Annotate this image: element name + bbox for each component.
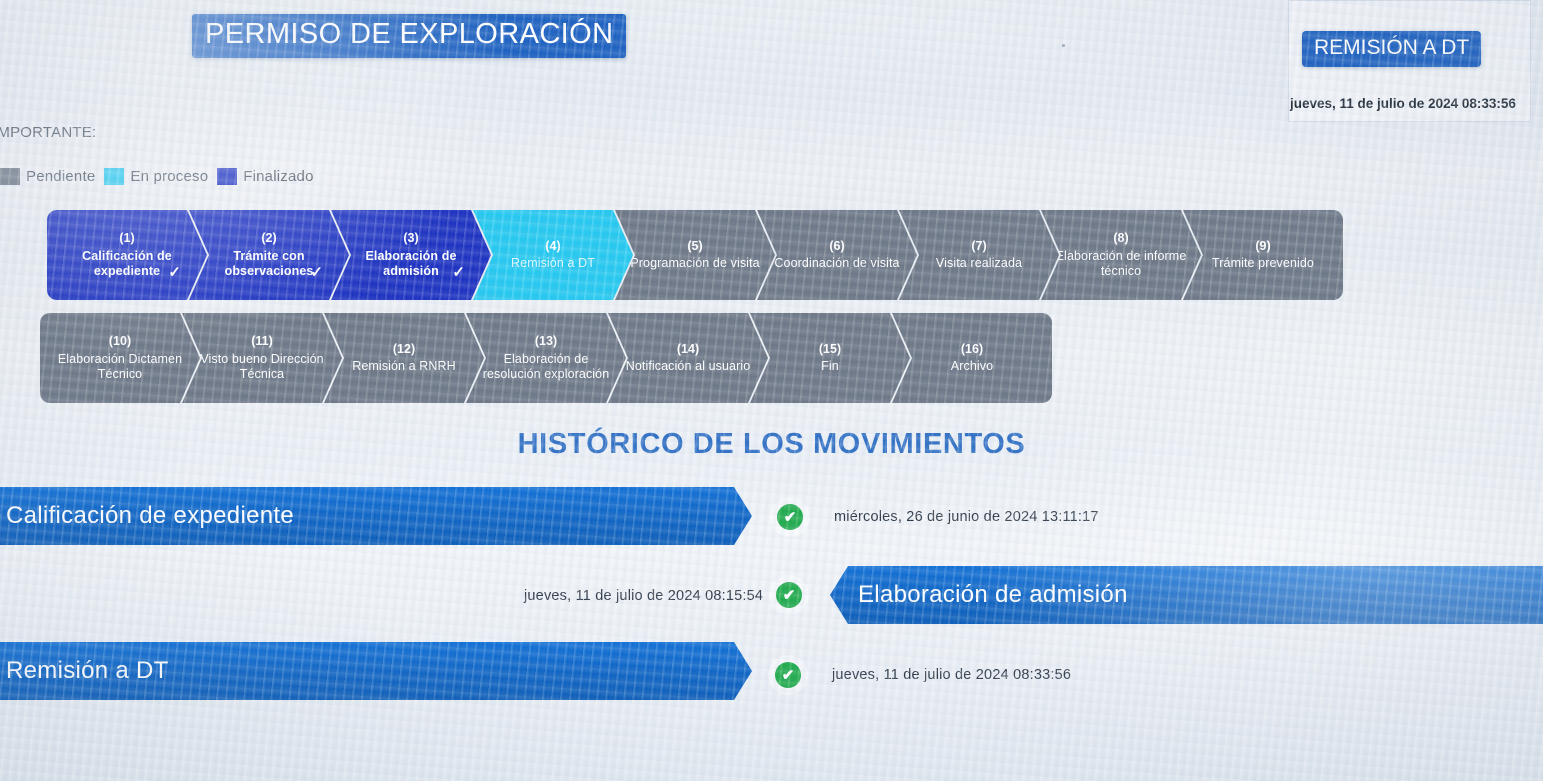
- history-bar-label: Calificación de expediente: [6, 502, 294, 530]
- flow-step-number: (14): [677, 342, 699, 358]
- flow-step-number: (13): [535, 334, 557, 350]
- flow-step-number: (2): [261, 231, 276, 247]
- flow-step-2[interactable]: (2)Trámite con observaciones✓: [189, 210, 349, 300]
- history-bar[interactable]: Calificación de expediente: [0, 487, 752, 545]
- flow-step-number: (10): [109, 334, 131, 350]
- check-icon: ✓: [310, 263, 323, 281]
- history-date: jueves, 11 de julio de 2024 08:33:56: [832, 667, 1071, 683]
- screen-artifact-text: [1040, 168, 1240, 186]
- flow-step-5[interactable]: (5)Programación de visita: [615, 210, 775, 300]
- legend-item-finalizado: Finalizado: [217, 168, 313, 185]
- flow-step-label: Visto bueno Dirección Técnica: [196, 352, 328, 383]
- flow-step-number: (4): [545, 239, 560, 255]
- flow-step-13[interactable]: (13)Elaboración de resolución exploració…: [466, 313, 626, 403]
- legend-item-pendiente: Pendiente: [0, 168, 95, 185]
- check-icon: ✓: [452, 263, 465, 281]
- flow-step-number: (8): [1113, 231, 1128, 247]
- important-label: IMPORTANTE:: [0, 124, 96, 141]
- flow-step-number: (16): [961, 342, 983, 358]
- flow-step-number: (9): [1255, 239, 1270, 255]
- history-heading: HISTÓRICO DE LOS MOVIMIENTOS: [0, 428, 1543, 461]
- flow-step-label: Coordinación de visita: [774, 256, 899, 271]
- flow-step-4[interactable]: (4)Remisión a DT: [473, 210, 633, 300]
- history-date: jueves, 11 de julio de 2024 08:15:54: [524, 588, 763, 604]
- history-date: miércoles, 26 de junio de 2024 13:11:17: [834, 509, 1099, 525]
- history-bar-label: Elaboración de admisión: [858, 581, 1128, 609]
- flow-step-number: (6): [829, 239, 844, 255]
- legend-label: Finalizado: [243, 168, 313, 185]
- flow-step-11[interactable]: (11)Visto bueno Dirección Técnica: [182, 313, 342, 403]
- flow-step-16[interactable]: (16)Archivo: [892, 313, 1052, 403]
- flow-step-number: (15): [819, 342, 841, 358]
- flow-step-label: Elaboración de informe técnico: [1055, 249, 1187, 280]
- flow-step-label: Remisión a DT: [511, 256, 595, 271]
- flow-step-1[interactable]: (1)Calificación de expediente✓: [47, 210, 207, 300]
- legend-label: Pendiente: [26, 168, 95, 185]
- history-bar-label: Remisión a DT: [6, 657, 169, 685]
- flow-step-label: Remisión a RNRH: [352, 359, 456, 374]
- flow-step-label: Notificación al usuario: [626, 359, 751, 374]
- flow-step-label: Programación de visita: [630, 256, 759, 271]
- flow-step-9[interactable]: (9)Trámite prevenido: [1183, 210, 1343, 300]
- flow-step-label: Fin: [821, 359, 839, 374]
- flow-step-number: (12): [393, 342, 415, 358]
- check-circle-icon: ✔: [777, 504, 803, 530]
- flow-steps-row-2: (10)Elaboración Dictamen Técnico(11)Vist…: [40, 313, 1034, 403]
- legend-swatch-icon: [217, 168, 237, 185]
- flow-step-12[interactable]: (12)Remisión a RNRH: [324, 313, 484, 403]
- history-entry: Calificación de expediente✔miércoles, 26…: [0, 487, 1543, 551]
- history-entry: Remisión a DT✔jueves, 11 de julio de 202…: [0, 642, 1543, 706]
- flow-step-7[interactable]: (7)Visita realizada: [899, 210, 1059, 300]
- flow-step-label: Archivo: [951, 359, 993, 374]
- flow-step-6[interactable]: (6)Coordinación de visita: [757, 210, 917, 300]
- flow-step-3[interactable]: (3)Elaboración de admisión✓: [331, 210, 491, 300]
- legend-item-en-proceso: En proceso: [104, 168, 208, 185]
- history-bar[interactable]: Remisión a DT: [0, 642, 752, 700]
- flow-step-label: Trámite prevenido: [1212, 256, 1314, 271]
- flow-step-15[interactable]: (15)Fin: [750, 313, 910, 403]
- flow-step-label: Visita realizada: [936, 256, 1022, 271]
- flow-step-number: (5): [687, 239, 702, 255]
- page-title: PERMISO DE EXPLORACIÓN: [192, 14, 626, 58]
- status-badge: REMISIÓN A DT: [1302, 31, 1481, 67]
- legend: PendienteEn procesoFinalizado: [0, 168, 314, 185]
- flow-step-label: Elaboración de resolución exploración: [480, 352, 612, 383]
- legend-swatch-icon: [104, 168, 124, 185]
- flow-step-label: Elaboración Dictamen Técnico: [54, 352, 186, 383]
- screen-artifact-dot: [1062, 44, 1065, 47]
- flow-step-14[interactable]: (14)Notificación al usuario: [608, 313, 768, 403]
- status-panel: REMISIÓN A DT jueves, 11 de julio de 202…: [1288, 0, 1531, 122]
- flow-step-number: (1): [119, 231, 134, 247]
- check-icon: ✓: [168, 263, 181, 281]
- flow-step-number: (3): [403, 231, 418, 247]
- flow-steps-row-1: (1)Calificación de expediente✓(2)Trámite…: [47, 210, 1325, 300]
- flow-step-8[interactable]: (8)Elaboración de informe técnico: [1041, 210, 1201, 300]
- legend-label: En proceso: [130, 168, 208, 185]
- check-circle-icon: ✔: [776, 582, 802, 608]
- flow-step-number: (11): [251, 334, 273, 350]
- history-entry: Elaboración de admisión✔jueves, 11 de ju…: [0, 566, 1543, 630]
- history-bar[interactable]: Elaboración de admisión: [830, 566, 1543, 624]
- flow-step-10[interactable]: (10)Elaboración Dictamen Técnico: [40, 313, 200, 403]
- check-circle-icon: ✔: [775, 662, 801, 688]
- legend-swatch-icon: [0, 168, 20, 185]
- flow-step-number: (7): [971, 239, 986, 255]
- status-date: jueves, 11 de julio de 2024 08:33:56: [1290, 96, 1516, 111]
